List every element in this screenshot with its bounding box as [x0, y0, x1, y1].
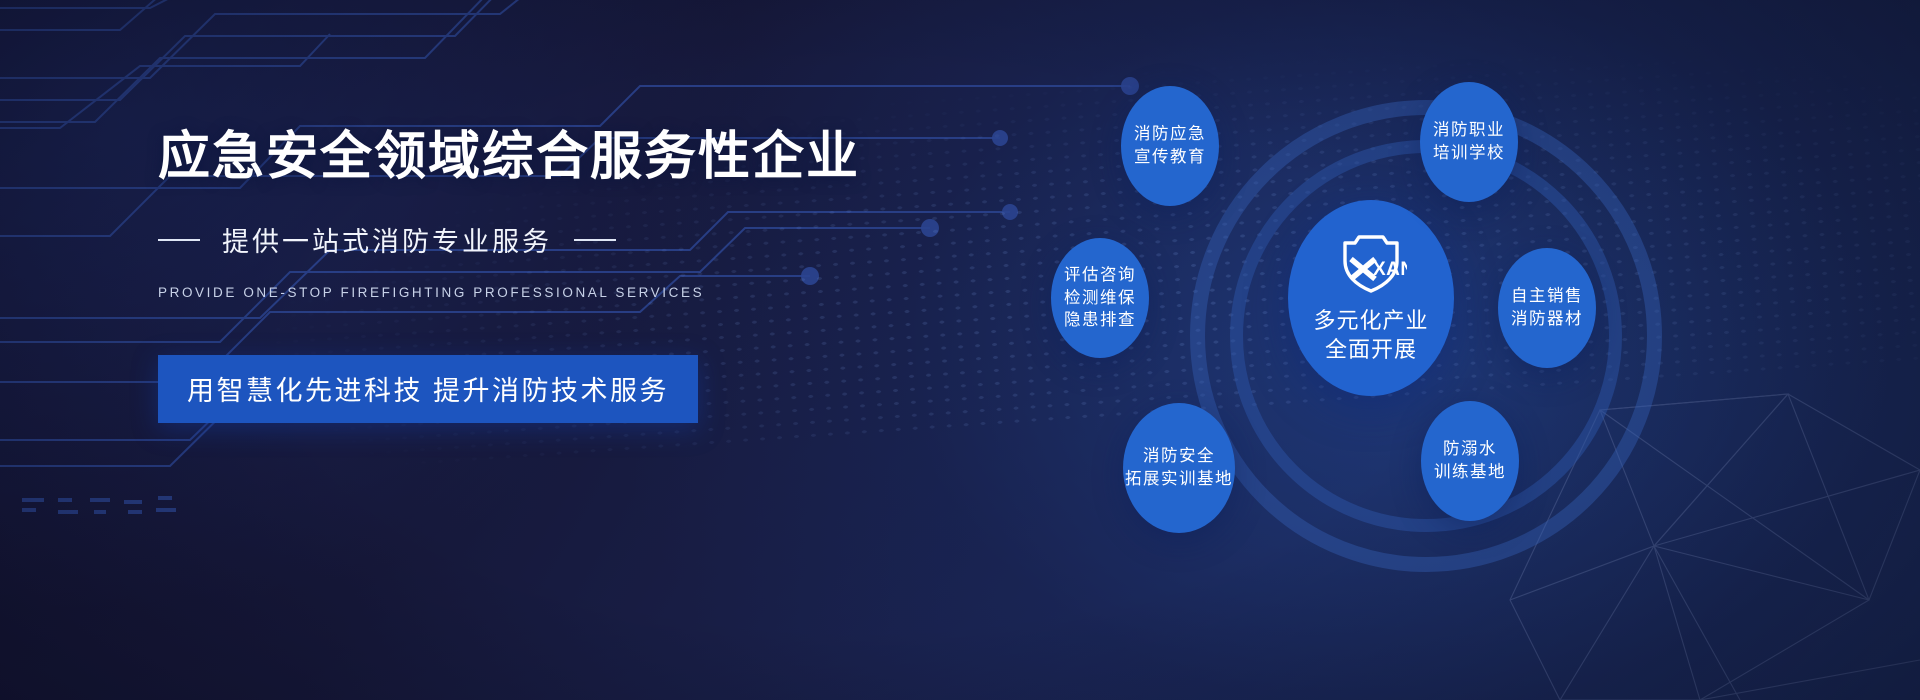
bubble-vocational-training-school[interactable]: 消防职业 培训学校 — [1420, 82, 1518, 202]
bubble-line-3: 隐患排查 — [1064, 309, 1136, 332]
center-line-1: 多元化产业 — [1313, 307, 1428, 336]
bubble-line-1: 消防职业 — [1433, 119, 1505, 142]
bubble-line-2: 训练基地 — [1434, 461, 1506, 484]
bubble-line-1: 评估咨询 — [1064, 264, 1136, 287]
svg-text:XAN: XAN — [1373, 259, 1407, 280]
english-tagline: PROVIDE ONE-STOP FIREFIGHTING PROFESSION… — [158, 285, 918, 300]
center-bubble[interactable]: XAN 多元化产业 全面开展 — [1288, 200, 1454, 396]
bubble-line-1: 防溺水 — [1443, 438, 1497, 461]
center-bubble-text: 多元化产业 全面开展 — [1313, 307, 1428, 364]
dash-left-icon — [158, 239, 200, 241]
bubble-line-2: 宣传教育 — [1134, 146, 1206, 169]
page-title: 应急安全领域综合服务性企业 — [158, 128, 918, 186]
bubble-line-2: 培训学校 — [1433, 142, 1505, 165]
bubble-assessment-inspection[interactable]: 评估咨询 检测维保 隐患排查 — [1051, 238, 1149, 358]
shield-logo-icon: XAN — [1335, 231, 1407, 297]
bubble-fire-emergency-education[interactable]: 消防应急 宣传教育 — [1121, 86, 1219, 206]
bubble-drowning-prevention-base[interactable]: 防溺水 训练基地 — [1421, 401, 1519, 521]
bubble-equipment-sales[interactable]: 自主销售 消防器材 — [1498, 248, 1596, 368]
dash-right-icon — [574, 239, 616, 241]
center-line-2: 全面开展 — [1313, 336, 1428, 365]
services-diagram: XAN 多元化产业 全面开展 消防应急 宣传教育 消防职业 培训学校 评估咨询 … — [1098, 58, 1758, 638]
bubble-safety-training-base[interactable]: 消防安全 拓展实训基地 — [1123, 403, 1235, 533]
bubble-line-2: 检测维保 — [1064, 287, 1136, 310]
subtitle-row: 提供一站式消防专业服务 — [158, 220, 918, 259]
bubble-line-2: 拓展实训基地 — [1125, 468, 1233, 491]
hero-copy: 应急安全领域综合服务性企业 提供一站式消防专业服务 PROVIDE ONE-ST… — [158, 128, 918, 423]
bubble-line-1: 自主销售 — [1511, 285, 1583, 308]
bubble-line-1: 消防安全 — [1143, 445, 1215, 468]
bubble-line-1: 消防应急 — [1134, 123, 1206, 146]
page-subtitle: 提供一站式消防专业服务 — [222, 220, 552, 259]
bubble-line-2: 消防器材 — [1511, 308, 1583, 331]
hero-banner: 应急安全领域综合服务性企业 提供一站式消防专业服务 PROVIDE ONE-ST… — [0, 0, 1920, 700]
cta-banner-button[interactable]: 用智慧化先进科技 提升消防技术服务 — [158, 355, 698, 423]
